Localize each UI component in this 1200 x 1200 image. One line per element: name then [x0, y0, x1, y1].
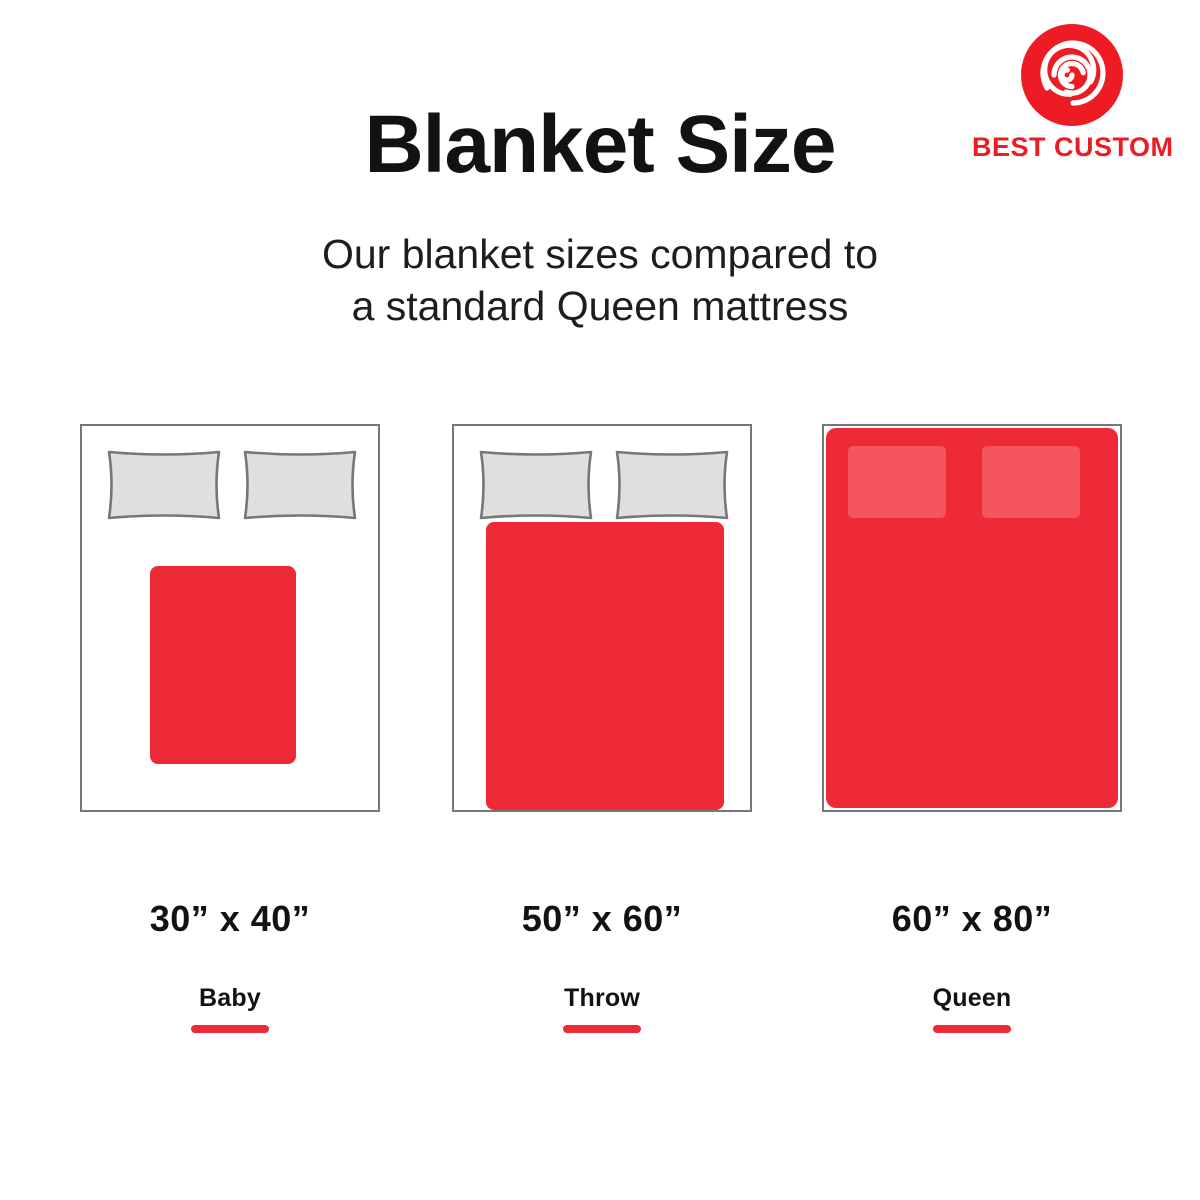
dimensions-label-baby: 30” x 40”	[80, 898, 380, 940]
blanket-queen	[826, 428, 1118, 808]
pillow-left-queen	[848, 446, 946, 518]
mattress-outline-throw	[452, 424, 752, 812]
page-title: Blanket Size	[0, 104, 1200, 186]
underline-rule-baby	[191, 1025, 269, 1033]
mattress-outline-queen	[822, 424, 1122, 812]
mattress-outline-baby	[80, 424, 380, 812]
size-name-baby: Baby	[80, 984, 380, 1013]
bed-diagram-throw	[452, 424, 752, 812]
subtitle-line-2: a standard Queen mattress	[0, 280, 1200, 332]
dimensions-label-throw: 50” x 60”	[452, 898, 752, 940]
caption-throw: 50” x 60” Throw	[452, 898, 752, 1033]
size-name-throw: Throw	[452, 984, 752, 1013]
dimensions-label-queen: 60” x 80”	[822, 898, 1122, 940]
subtitle-line-1: Our blanket sizes compared to	[0, 228, 1200, 280]
underline-rule-queen	[933, 1025, 1011, 1033]
blanket-throw	[486, 522, 724, 810]
size-name-queen: Queen	[822, 984, 1122, 1013]
underline-rule-throw	[563, 1025, 641, 1033]
page-subtitle: Our blanket sizes compared to a standard…	[0, 228, 1200, 333]
pillow-right-baby	[240, 446, 360, 524]
pillow-right-throw	[612, 446, 732, 524]
pillow-left-throw	[476, 446, 596, 524]
infographic-canvas: BEST CUSTOM Blanket Size Our blanket siz…	[0, 0, 1200, 1200]
pillow-right-queen	[982, 446, 1080, 518]
bed-diagram-queen	[822, 424, 1122, 812]
caption-queen: 60” x 80” Queen	[822, 898, 1122, 1033]
pillow-left-baby	[104, 446, 224, 524]
blanket-baby	[150, 566, 296, 764]
bed-diagram-baby	[80, 424, 380, 812]
caption-baby: 30” x 40” Baby	[80, 898, 380, 1033]
